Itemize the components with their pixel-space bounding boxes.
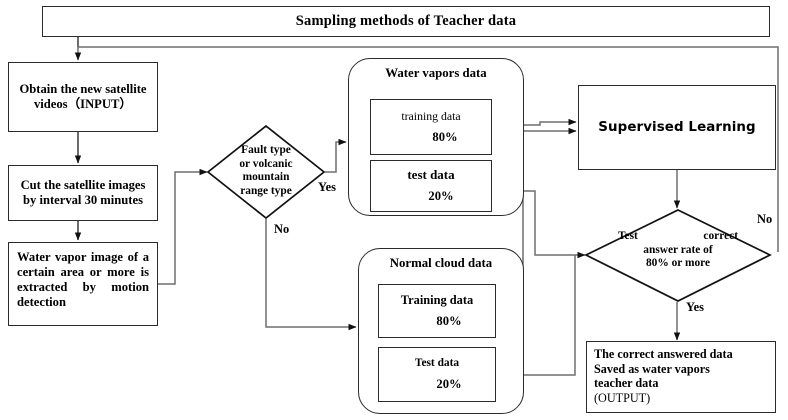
normal-cloud-training-percent: 80% bbox=[379, 314, 495, 329]
normal-cloud-test-box[interactable]: Test data 20% bbox=[378, 347, 496, 402]
decision1-line1: Fault type bbox=[230, 144, 302, 158]
decision1-line3: mountain bbox=[230, 171, 302, 185]
decision-fault-or-volcanic[interactable]: Fault type or volcanic mountain range ty… bbox=[206, 124, 326, 220]
step3-line4: detection bbox=[17, 295, 149, 310]
step1-line1: Obtain the new satellite bbox=[20, 82, 147, 97]
decision1-line2: or volcanic bbox=[230, 158, 302, 172]
decision1-line4: range type bbox=[230, 185, 302, 199]
step3-line1: Water vapor image of a bbox=[17, 250, 149, 265]
decision2-yes-label: Yes bbox=[686, 300, 704, 315]
decision2-line3: 80% or more bbox=[618, 257, 738, 271]
normal-cloud-test-label: Test data bbox=[379, 357, 495, 369]
decision-test-accuracy[interactable]: Test correct answer rate of 80% or more bbox=[584, 208, 772, 304]
output-box[interactable]: The correct answered data Saved as water… bbox=[586, 341, 776, 413]
water-vapors-group-title: Water vapors data bbox=[348, 66, 524, 81]
decision2-text: Test correct answer rate of 80% or more bbox=[584, 230, 772, 271]
decision1-no-label: No bbox=[274, 222, 289, 237]
output-line4: (OUTPUT) bbox=[594, 391, 768, 406]
step-water-vapor-extraction[interactable]: Water vapor image of a certain area or m… bbox=[8, 242, 158, 326]
decision2-line2: answer rate of bbox=[618, 244, 738, 258]
flowchart-canvas: Sampling methods of Teacher data Obtain … bbox=[0, 0, 788, 420]
output-line2: Saved as water vapors bbox=[594, 362, 768, 377]
water-vapors-training-box[interactable]: training data 80% bbox=[370, 99, 492, 155]
output-line3: teacher data bbox=[594, 376, 768, 391]
output-line1: The correct answered data bbox=[594, 347, 768, 362]
step2-line2: by interval 30 minutes bbox=[21, 193, 146, 208]
normal-cloud-test-percent: 20% bbox=[379, 377, 495, 392]
water-vapors-training-label: training data bbox=[371, 109, 491, 124]
supervised-learning-box[interactable]: Supervised Learning bbox=[578, 85, 776, 170]
normal-cloud-group-title: Normal cloud data bbox=[358, 256, 524, 271]
normal-cloud-training-box[interactable]: Training data 80% bbox=[378, 284, 496, 338]
supervised-learning-label: Supervised Learning bbox=[598, 120, 755, 136]
decision2-no-label: No bbox=[757, 212, 772, 227]
step-cut-satellite-images[interactable]: Cut the satellite images by interval 30 … bbox=[8, 165, 158, 221]
decision1-yes-label: Yes bbox=[318, 180, 336, 195]
water-vapors-test-box[interactable]: test data 20% bbox=[370, 160, 492, 212]
decision1-text: Fault type or volcanic mountain range ty… bbox=[206, 144, 326, 199]
water-vapors-test-label: test data bbox=[371, 167, 491, 183]
diagram-title-box: Sampling methods of Teacher data bbox=[42, 6, 770, 37]
step3-line2: certain area or more is bbox=[17, 265, 149, 280]
diagram-title: Sampling methods of Teacher data bbox=[296, 13, 516, 30]
step1-line2: videos（INPUT） bbox=[20, 97, 147, 112]
step3-line3: extracted by motion bbox=[17, 280, 149, 295]
step2-line1: Cut the satellite images bbox=[21, 178, 146, 193]
normal-cloud-training-label: Training data bbox=[379, 293, 495, 308]
water-vapors-training-percent: 80% bbox=[371, 130, 491, 145]
water-vapors-test-percent: 20% bbox=[371, 189, 491, 204]
decision2-line1: Test correct bbox=[618, 230, 738, 244]
step-obtain-satellite-videos[interactable]: Obtain the new satellite videos（INPUT） bbox=[8, 62, 158, 132]
